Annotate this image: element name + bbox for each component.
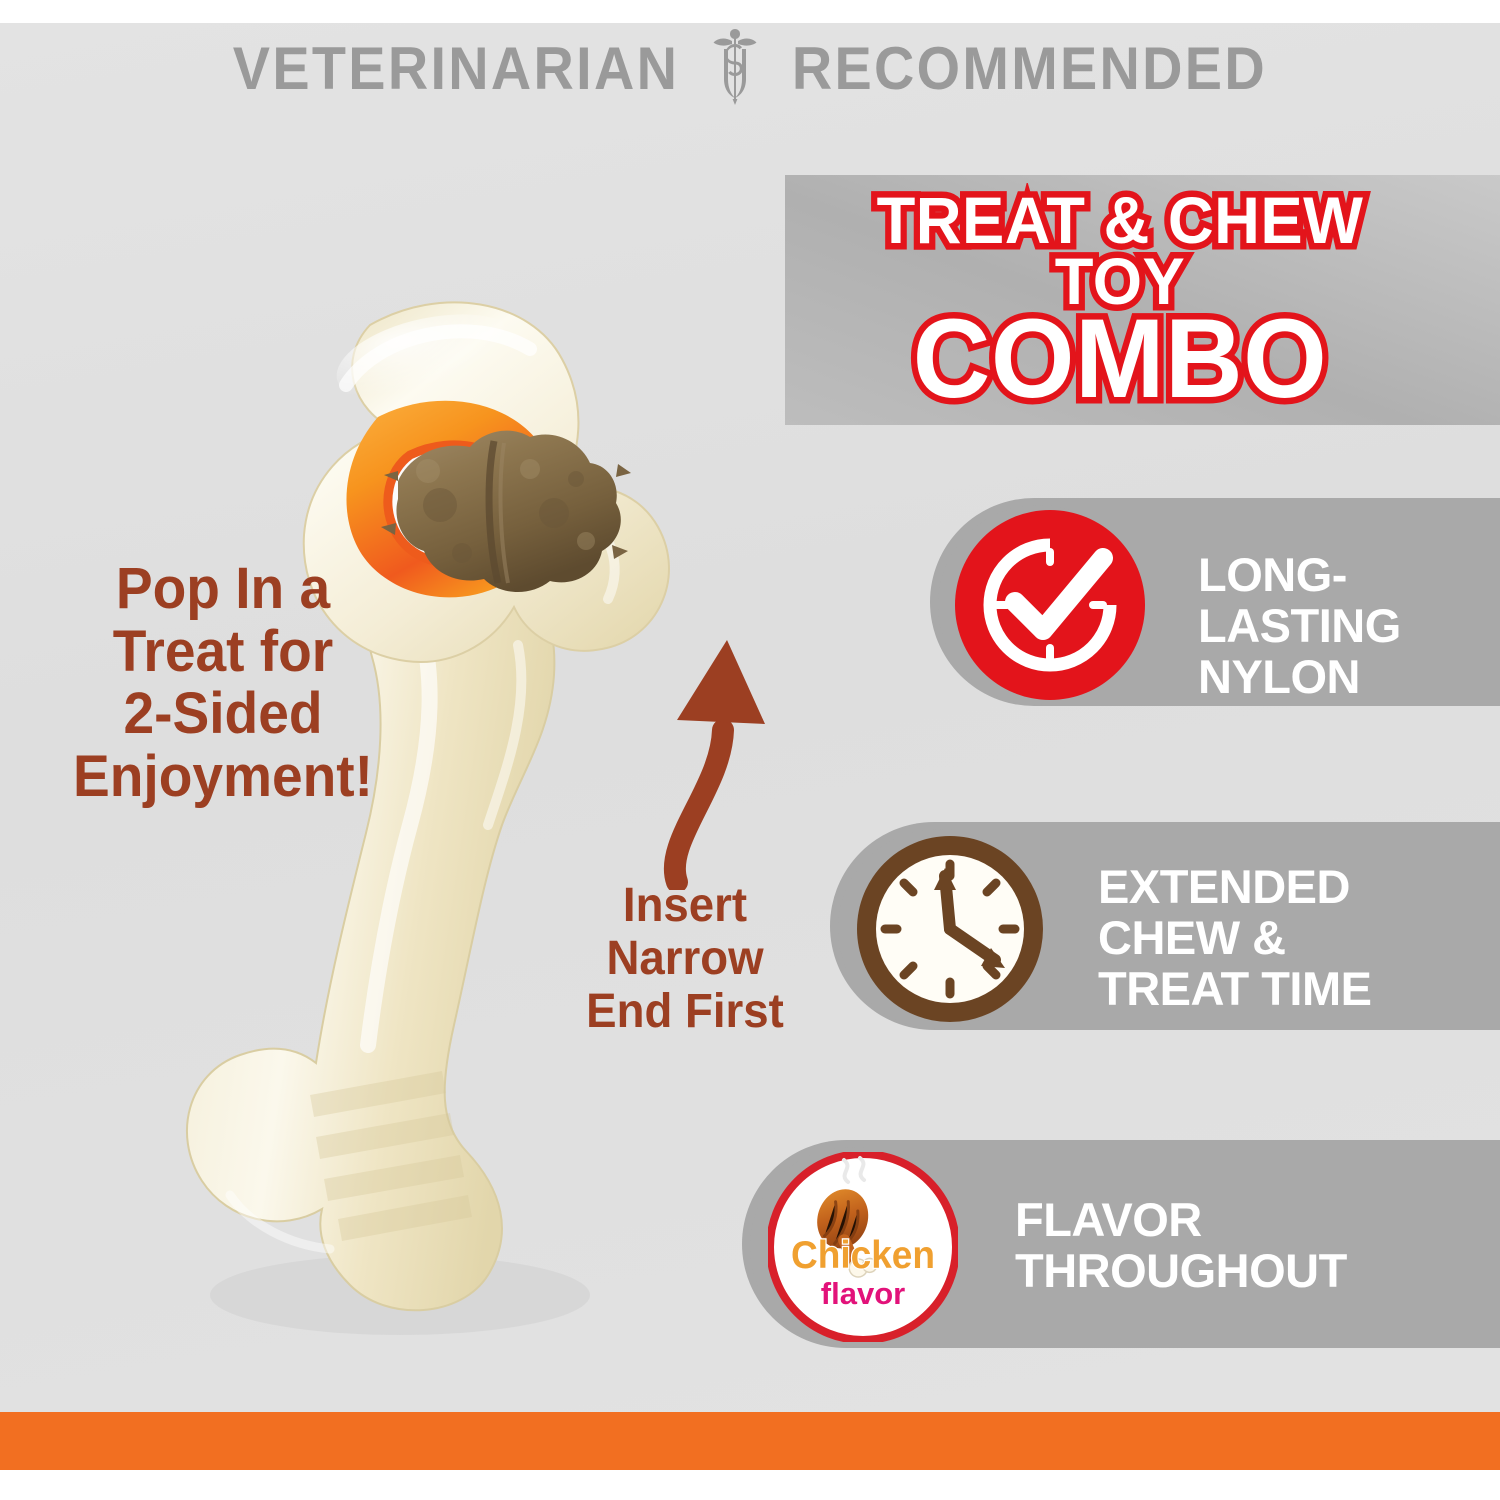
chicken-word: Chicken bbox=[791, 1234, 935, 1277]
chicken-flavor-icon: Chicken flavor bbox=[768, 1152, 958, 1342]
left-callout-line-1: Pop In a bbox=[66, 558, 380, 621]
left-callout-line-2: Treat for bbox=[66, 621, 380, 684]
insert-callout-line-2: Narrow bbox=[566, 933, 804, 986]
feature-2-line-2: CHEW & bbox=[1098, 913, 1478, 964]
left-callout-line-3: 2-Sided bbox=[66, 683, 380, 746]
feature-2-line-1: EXTENDED bbox=[1098, 862, 1478, 913]
feature-text-1: LONG- LASTING NYLON bbox=[1198, 550, 1478, 702]
top-white-margin bbox=[0, 0, 1500, 23]
left-callout-line-4: Enjoyment! bbox=[66, 746, 380, 809]
flavor-word: flavor bbox=[821, 1276, 905, 1311]
feature-1-line-1: LONG- bbox=[1198, 550, 1478, 601]
feature-text-3: FLAVOR THROUGHOUT bbox=[1015, 1195, 1475, 1297]
feature-1-line-3: NYLON bbox=[1198, 652, 1478, 703]
bottom-white-margin bbox=[0, 1470, 1500, 1500]
analog-clock-icon bbox=[855, 834, 1045, 1024]
pop-in-treat-callout: Pop In a Treat for 2-Sided Enjoyment! bbox=[66, 558, 380, 809]
header-banner: VETERINARIAN RECOMMENDED bbox=[0, 23, 1500, 113]
header-text-right: RECOMMENDED bbox=[791, 34, 1266, 103]
insert-narrow-end-callout: Insert Narrow End First bbox=[566, 880, 804, 1038]
header-text-left: VETERINARIAN bbox=[232, 34, 678, 103]
curved-up-arrow-icon bbox=[615, 620, 775, 890]
feature-1-line-2: LASTING bbox=[1198, 601, 1478, 652]
clock-check-icon bbox=[955, 510, 1145, 700]
feature-3-line-1: FLAVOR bbox=[1015, 1195, 1475, 1246]
veterinary-caduceus-icon bbox=[712, 27, 758, 105]
footer-orange-bar bbox=[0, 1412, 1500, 1470]
insert-callout-line-1: Insert bbox=[566, 880, 804, 933]
feature-3-line-2: THROUGHOUT bbox=[1015, 1246, 1475, 1297]
insert-callout-line-3: End First bbox=[566, 986, 804, 1039]
product-infographic: VETERINARIAN RECOMMENDED TREAT & CHEW TO… bbox=[0, 0, 1500, 1500]
feature-text-2: EXTENDED CHEW & TREAT TIME bbox=[1098, 862, 1478, 1014]
feature-2-line-3: TREAT TIME bbox=[1098, 964, 1478, 1015]
